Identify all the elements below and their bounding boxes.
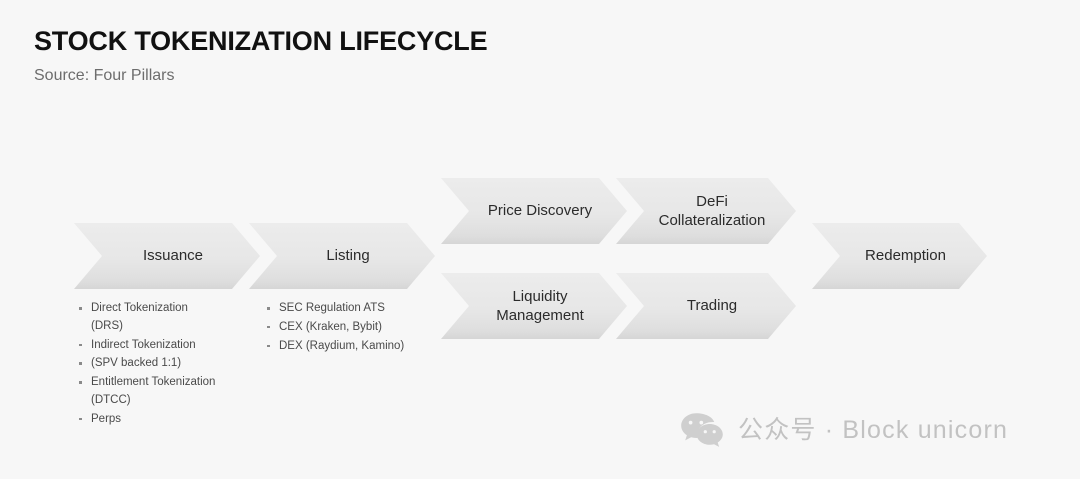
stage-chevron-redemption[interactable]: Redemption <box>812 223 987 289</box>
list-item: Indirect Tokenization <box>78 337 253 355</box>
slide-header: STOCK TOKENIZATION LIFECYCLE Source: Fou… <box>34 26 734 85</box>
list-item: Perps <box>78 411 253 429</box>
stage-label-liquidity-management: Liquidity Management <box>474 287 594 326</box>
list-item: (SPV backed 1:1) <box>78 355 253 373</box>
source-caption: Source: Four Pillars <box>34 66 734 85</box>
stage-label-trading: Trading <box>665 296 747 316</box>
listing-bullet-list: SEC Regulation ATS CEX (Kraken, Bybit) D… <box>266 300 446 356</box>
list-item: Direct Tokenization (DRS) <box>78 300 253 336</box>
slide-canvas: STOCK TOKENIZATION LIFECYCLE Source: Fou… <box>0 0 1080 479</box>
stage-chevron-listing[interactable]: Listing <box>249 223 435 289</box>
watermark: 公众号 · Block unicorn <box>680 412 1008 448</box>
stage-chevron-defi-collateralization[interactable]: DeFi Collateralization <box>616 178 796 244</box>
list-item: SEC Regulation ATS <box>266 300 446 318</box>
stage-label-issuance: Issuance <box>121 246 213 266</box>
stage-chevron-price-discovery[interactable]: Price Discovery <box>441 178 627 244</box>
watermark-text: 公众号 · Block unicorn <box>738 418 1008 443</box>
stage-label-redemption: Redemption <box>843 246 956 266</box>
wechat-icon <box>680 412 724 448</box>
stage-label-defi-collateralization: DeFi Collateralization <box>637 192 776 231</box>
list-item: DEX (Raydium, Kamino) <box>266 338 446 356</box>
list-item: CEX (Kraken, Bybit) <box>266 319 446 337</box>
stage-chevron-trading[interactable]: Trading <box>616 273 796 339</box>
stage-chevron-liquidity-management[interactable]: Liquidity Management <box>441 273 627 339</box>
page-title: STOCK TOKENIZATION LIFECYCLE <box>34 26 734 57</box>
list-item: Entitlement Tokenization (DTCC) <box>78 374 253 410</box>
stage-chevron-issuance[interactable]: Issuance <box>74 223 260 289</box>
stage-label-listing: Listing <box>304 246 379 266</box>
stage-label-price-discovery: Price Discovery <box>466 201 602 221</box>
issuance-bullet-list: Direct Tokenization (DRS) Indirect Token… <box>78 300 253 430</box>
